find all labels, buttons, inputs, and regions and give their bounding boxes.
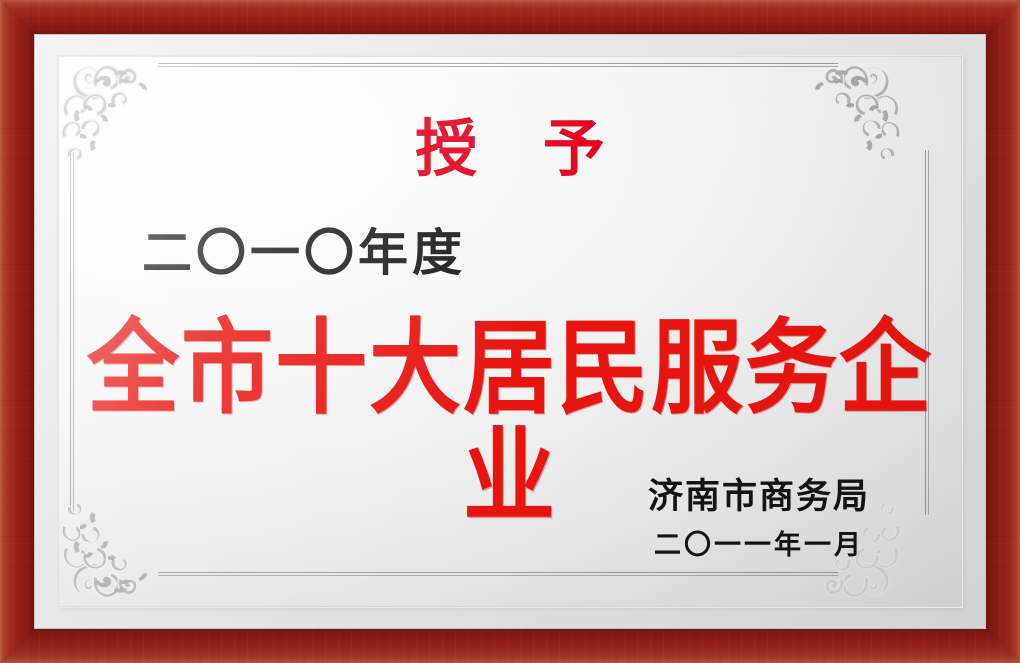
wood-grain-texture-bottom (0, 629, 1020, 663)
wood-grain-texture-right (986, 0, 1020, 663)
award-verb-text: 授 予 (58, 118, 962, 180)
frame-rail-top (0, 0, 1020, 34)
frame-rail-left (0, 0, 34, 663)
issuer-name-text: 济南市商务局 (648, 480, 870, 515)
award-plaque: 授 予 二〇一〇年度 全市十大居民服务企业 济南市商务局 二〇一一年一月 (0, 0, 1020, 663)
issuer-block: 济南市商务局 二〇一一年一月 (648, 480, 870, 559)
wood-grain-texture-top (0, 0, 1020, 34)
frame-rail-right (986, 0, 1020, 663)
award-year-text: 二〇一〇年度 (142, 228, 466, 278)
frame-rail-bottom (0, 629, 1020, 663)
issuer-date-text: 二〇一一年一月 (648, 532, 870, 559)
plaque-content: 授 予 二〇一〇年度 全市十大居民服务企业 济南市商务局 二〇一一年一月 (58, 56, 962, 607)
wood-grain-texture-left (0, 0, 34, 663)
